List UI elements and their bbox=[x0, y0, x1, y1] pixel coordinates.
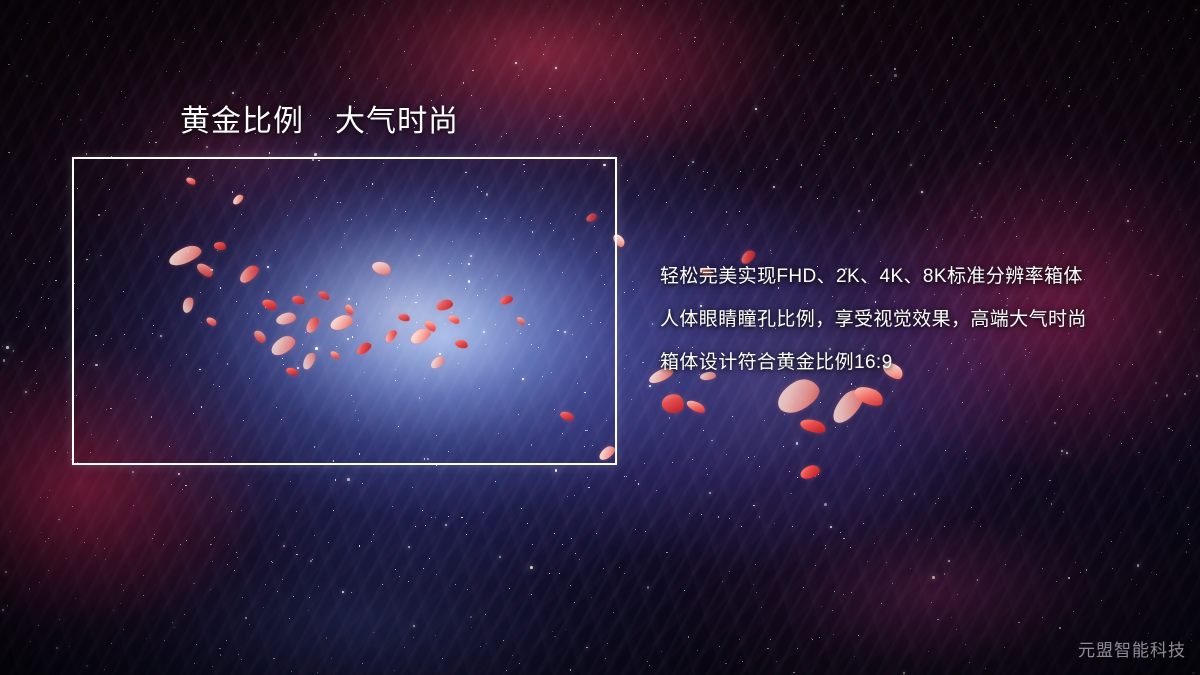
star-point bbox=[47, 497, 48, 498]
star-point bbox=[988, 390, 989, 391]
star-point bbox=[1016, 236, 1017, 237]
star-point bbox=[1117, 21, 1118, 22]
star-point bbox=[1051, 503, 1053, 505]
star-point bbox=[643, 98, 644, 99]
star-point bbox=[764, 98, 765, 99]
feature-description: 轻松完美实现FHD、2K、4K、8K标准分辨率箱体 人体眼睛瞳孔比例，享受视觉效… bbox=[660, 255, 1160, 384]
star-point bbox=[143, 595, 144, 596]
star-point bbox=[392, 506, 393, 507]
star-point bbox=[952, 37, 953, 38]
star-point bbox=[691, 212, 692, 213]
star-point bbox=[552, 631, 553, 632]
star-point bbox=[1196, 375, 1198, 377]
star-point bbox=[951, 617, 952, 618]
star-point bbox=[932, 576, 935, 579]
star-point bbox=[423, 568, 424, 569]
star-point bbox=[206, 146, 208, 148]
star-point bbox=[28, 326, 29, 327]
star-point bbox=[815, 476, 816, 477]
star-point bbox=[645, 531, 646, 532]
star-point bbox=[732, 416, 733, 417]
star-point bbox=[688, 165, 689, 166]
star-point bbox=[1125, 3, 1127, 5]
star-point bbox=[928, 651, 929, 652]
star-point bbox=[554, 636, 556, 638]
star-point bbox=[130, 50, 131, 51]
star-point bbox=[984, 83, 985, 84]
star-point bbox=[531, 594, 532, 595]
star-point bbox=[1192, 672, 1195, 675]
star-point bbox=[703, 430, 704, 431]
star-point bbox=[1160, 145, 1161, 146]
star-point bbox=[680, 33, 681, 34]
star-point bbox=[858, 210, 860, 212]
star-point bbox=[65, 357, 66, 358]
star-point bbox=[296, 554, 297, 555]
star-point bbox=[404, 647, 405, 648]
star-point bbox=[1080, 572, 1081, 573]
star-point bbox=[353, 14, 354, 15]
star-point bbox=[917, 539, 919, 541]
star-point bbox=[42, 284, 43, 285]
star-point bbox=[660, 38, 661, 39]
star-point bbox=[1186, 224, 1187, 225]
star-point bbox=[938, 498, 939, 499]
star-point bbox=[1183, 18, 1184, 19]
star-point bbox=[867, 561, 868, 562]
star-point bbox=[1190, 142, 1191, 143]
star-point bbox=[1148, 11, 1149, 12]
star-point bbox=[11, 214, 12, 215]
star-point bbox=[798, 23, 799, 24]
star-point bbox=[642, 362, 643, 363]
star-point bbox=[766, 167, 767, 168]
star-point bbox=[1101, 600, 1102, 601]
star-point bbox=[753, 584, 754, 585]
star-point bbox=[642, 5, 643, 6]
star-point bbox=[395, 569, 396, 570]
star-point bbox=[105, 559, 106, 560]
star-point bbox=[1179, 460, 1180, 461]
star-point bbox=[652, 323, 654, 325]
star-point bbox=[1063, 253, 1064, 254]
star-point bbox=[894, 68, 895, 69]
star-point bbox=[92, 21, 93, 22]
star-point bbox=[272, 562, 273, 563]
star-point bbox=[960, 54, 961, 55]
star-point bbox=[796, 442, 799, 445]
star-point bbox=[783, 55, 784, 56]
star-point bbox=[470, 616, 473, 619]
star-point bbox=[1106, 23, 1107, 24]
star-point bbox=[859, 456, 860, 457]
star-point bbox=[121, 584, 122, 585]
star-point bbox=[275, 499, 276, 500]
star-point bbox=[121, 91, 122, 92]
star-point bbox=[599, 23, 601, 25]
star-point bbox=[19, 311, 20, 312]
star-point bbox=[921, 191, 923, 193]
star-point bbox=[58, 519, 60, 521]
star-point bbox=[77, 528, 78, 529]
star-point bbox=[1168, 20, 1169, 21]
star-point bbox=[29, 588, 30, 589]
star-point bbox=[1127, 220, 1129, 222]
star-point bbox=[704, 189, 705, 190]
star-point bbox=[466, 534, 467, 535]
star-point bbox=[1005, 564, 1006, 565]
star-point bbox=[26, 75, 28, 77]
star-point bbox=[965, 451, 966, 452]
star-point bbox=[1172, 430, 1173, 431]
star-point bbox=[257, 45, 258, 46]
star-point bbox=[461, 517, 462, 518]
star-point bbox=[1056, 97, 1057, 98]
star-point bbox=[6, 346, 9, 349]
star-point bbox=[184, 614, 185, 615]
star-point bbox=[194, 663, 195, 664]
star-point bbox=[910, 568, 911, 569]
star-point bbox=[638, 195, 639, 196]
star-point bbox=[1166, 394, 1169, 397]
star-point bbox=[398, 39, 399, 40]
star-point bbox=[835, 427, 836, 428]
star-point bbox=[1125, 142, 1126, 143]
star-point bbox=[399, 576, 400, 577]
star-point bbox=[654, 189, 655, 190]
star-point bbox=[314, 153, 317, 156]
star-point bbox=[41, 532, 42, 533]
star-point bbox=[801, 398, 802, 399]
star-point bbox=[590, 126, 591, 127]
star-point bbox=[874, 12, 875, 13]
star-point bbox=[690, 105, 691, 106]
star-point bbox=[384, 3, 385, 4]
star-point bbox=[1014, 218, 1015, 219]
star-point bbox=[1049, 480, 1050, 481]
star-point bbox=[1113, 62, 1114, 63]
star-point bbox=[107, 36, 108, 37]
star-point bbox=[1194, 114, 1195, 115]
star-point bbox=[278, 535, 279, 536]
star-point bbox=[241, 510, 242, 511]
star-point bbox=[869, 488, 870, 489]
star-point bbox=[425, 525, 426, 526]
star-point bbox=[979, 163, 981, 165]
star-point bbox=[761, 607, 762, 608]
star-point bbox=[328, 542, 329, 543]
star-point bbox=[973, 521, 974, 522]
star-point bbox=[1194, 161, 1195, 162]
star-point bbox=[349, 78, 350, 79]
star-point bbox=[522, 69, 523, 70]
star-point bbox=[97, 538, 98, 539]
star-point bbox=[855, 386, 856, 387]
star-point bbox=[847, 426, 848, 427]
star-point bbox=[1189, 390, 1190, 391]
star-point bbox=[1077, 404, 1078, 405]
star-point bbox=[1063, 511, 1064, 512]
star-point bbox=[1172, 48, 1173, 49]
star-point bbox=[964, 235, 965, 236]
star-point bbox=[776, 159, 777, 160]
star-point bbox=[1112, 568, 1113, 569]
star-point bbox=[277, 591, 278, 592]
star-point bbox=[1101, 552, 1102, 553]
star-point bbox=[45, 541, 46, 542]
star-point bbox=[448, 516, 449, 517]
star-point bbox=[221, 41, 222, 42]
rose-petal bbox=[799, 417, 827, 436]
star-point bbox=[549, 573, 550, 574]
star-point bbox=[588, 487, 589, 488]
star-point bbox=[1162, 182, 1163, 183]
star-point bbox=[1186, 551, 1188, 553]
star-point bbox=[1194, 329, 1195, 330]
star-point bbox=[605, 658, 606, 659]
star-point bbox=[572, 37, 573, 38]
star-point bbox=[684, 236, 685, 237]
star-point bbox=[770, 250, 771, 251]
star-point bbox=[185, 485, 186, 486]
star-point bbox=[1151, 572, 1152, 573]
star-point bbox=[530, 566, 533, 569]
star-point bbox=[174, 39, 175, 40]
star-point bbox=[819, 154, 820, 155]
star-point bbox=[559, 573, 560, 574]
star-point bbox=[1068, 577, 1069, 578]
star-point bbox=[265, 584, 266, 585]
star-point bbox=[296, 38, 297, 39]
star-point bbox=[916, 21, 917, 22]
star-point bbox=[753, 505, 755, 507]
star-point bbox=[171, 484, 172, 485]
star-point bbox=[296, 142, 297, 143]
star-point bbox=[694, 41, 695, 42]
star-point bbox=[672, 462, 673, 463]
star-point bbox=[850, 547, 851, 548]
star-point bbox=[72, 506, 73, 507]
star-point bbox=[245, 617, 246, 618]
star-point bbox=[684, 590, 685, 591]
star-point bbox=[644, 69, 645, 70]
star-point bbox=[532, 544, 533, 545]
star-point bbox=[669, 396, 670, 397]
star-point bbox=[602, 512, 603, 513]
star-point bbox=[692, 459, 693, 460]
star-point bbox=[921, 27, 922, 28]
star-point bbox=[1109, 435, 1110, 436]
star-point bbox=[565, 629, 566, 630]
star-point bbox=[798, 45, 799, 46]
star-point bbox=[340, 66, 341, 67]
star-point bbox=[408, 581, 409, 582]
star-point bbox=[856, 138, 857, 139]
star-point bbox=[1027, 85, 1029, 87]
star-point bbox=[711, 440, 713, 442]
star-point bbox=[1131, 41, 1133, 43]
star-point bbox=[886, 562, 887, 563]
star-point bbox=[172, 622, 173, 623]
star-point bbox=[36, 204, 37, 205]
star-point bbox=[1010, 475, 1011, 476]
star-point bbox=[784, 16, 785, 17]
star-point bbox=[258, 43, 260, 45]
star-point bbox=[1095, 26, 1096, 27]
star-point bbox=[193, 583, 194, 584]
star-point bbox=[68, 55, 69, 56]
star-point bbox=[210, 80, 211, 81]
star-point bbox=[565, 90, 566, 91]
star-point bbox=[182, 489, 183, 490]
star-point bbox=[941, 130, 942, 131]
star-point bbox=[891, 80, 892, 81]
star-point bbox=[800, 186, 801, 187]
star-point bbox=[956, 629, 957, 630]
star-point bbox=[1042, 200, 1043, 201]
brand-watermark: 元盟智能科技 bbox=[1078, 636, 1186, 661]
star-point bbox=[834, 93, 835, 94]
star-point bbox=[501, 136, 502, 137]
star-point bbox=[291, 671, 292, 672]
star-point bbox=[1190, 445, 1191, 446]
rose-petal bbox=[685, 398, 707, 415]
star-point bbox=[312, 559, 313, 560]
star-point bbox=[1018, 622, 1019, 623]
star-point bbox=[67, 116, 68, 117]
star-point bbox=[48, 538, 49, 539]
star-point bbox=[178, 473, 180, 475]
star-point bbox=[1151, 422, 1152, 423]
star-point bbox=[231, 511, 232, 512]
star-point bbox=[362, 483, 363, 484]
star-point bbox=[1087, 147, 1088, 148]
star-point bbox=[1139, 613, 1140, 614]
star-point bbox=[1121, 443, 1122, 444]
star-point bbox=[422, 510, 423, 511]
star-point bbox=[965, 644, 966, 645]
star-point bbox=[55, 280, 56, 281]
star-point bbox=[924, 155, 925, 156]
star-point bbox=[554, 37, 555, 38]
star-point bbox=[707, 172, 708, 173]
star-point bbox=[784, 414, 785, 415]
star-point bbox=[901, 500, 902, 501]
star-point bbox=[10, 412, 11, 413]
star-point bbox=[1137, 564, 1140, 567]
star-point bbox=[146, 638, 147, 639]
star-point bbox=[211, 544, 212, 545]
star-point bbox=[495, 45, 496, 46]
star-point bbox=[512, 655, 513, 656]
star-point bbox=[342, 591, 344, 593]
star-point bbox=[798, 75, 800, 77]
star-point bbox=[295, 546, 296, 547]
star-point bbox=[669, 417, 670, 418]
star-point bbox=[1171, 105, 1172, 106]
description-line-2: 人体眼睛瞳孔比例，享受视觉效果，高端大气时尚 bbox=[660, 298, 1160, 341]
star-point bbox=[599, 150, 600, 151]
star-point bbox=[1191, 634, 1192, 635]
star-point bbox=[122, 124, 123, 125]
star-point bbox=[21, 39, 22, 40]
star-point bbox=[450, 10, 451, 11]
star-point bbox=[210, 589, 211, 590]
star-point bbox=[371, 541, 372, 542]
star-point bbox=[1188, 524, 1189, 525]
star-point bbox=[647, 661, 648, 662]
star-point bbox=[1013, 115, 1014, 116]
star-point bbox=[1172, 124, 1173, 125]
star-point bbox=[210, 544, 211, 545]
star-point bbox=[1039, 30, 1040, 31]
star-point bbox=[613, 35, 614, 36]
star-point bbox=[1011, 488, 1012, 489]
star-point bbox=[1131, 579, 1132, 580]
star-point bbox=[412, 487, 413, 488]
star-point bbox=[1071, 157, 1072, 158]
star-point bbox=[562, 126, 563, 127]
star-point bbox=[740, 62, 741, 63]
star-point bbox=[991, 150, 992, 151]
star-point bbox=[969, 662, 970, 663]
star-point bbox=[746, 136, 747, 137]
star-point bbox=[515, 62, 517, 64]
star-point bbox=[834, 108, 835, 109]
star-point bbox=[910, 164, 912, 166]
star-point bbox=[25, 259, 27, 261]
star-point bbox=[978, 29, 979, 30]
star-point bbox=[60, 228, 61, 229]
star-point bbox=[101, 112, 102, 113]
star-point bbox=[870, 75, 872, 77]
star-point bbox=[1141, 230, 1142, 231]
star-point bbox=[182, 42, 184, 44]
star-point bbox=[267, 93, 268, 94]
star-point bbox=[1089, 413, 1090, 414]
star-point bbox=[994, 121, 995, 122]
star-point bbox=[65, 417, 66, 418]
star-point bbox=[817, 198, 818, 199]
star-point bbox=[842, 13, 843, 14]
star-point bbox=[1124, 140, 1125, 141]
star-point bbox=[152, 538, 153, 539]
star-point bbox=[754, 456, 755, 457]
star-point bbox=[194, 28, 195, 29]
star-point bbox=[32, 81, 33, 82]
star-point bbox=[263, 607, 264, 608]
star-point bbox=[113, 610, 114, 611]
star-point bbox=[362, 663, 363, 664]
star-point bbox=[870, 184, 871, 185]
star-point bbox=[692, 161, 694, 163]
star-point bbox=[382, 584, 383, 585]
star-point bbox=[326, 637, 327, 638]
star-point bbox=[237, 557, 238, 558]
star-point bbox=[220, 654, 221, 655]
star-point bbox=[1046, 498, 1047, 499]
star-point bbox=[232, 92, 234, 94]
star-point bbox=[1080, 89, 1081, 90]
star-point bbox=[680, 79, 681, 80]
star-point bbox=[801, 164, 802, 165]
star-point bbox=[830, 526, 832, 528]
star-point bbox=[269, 152, 270, 153]
star-point bbox=[509, 588, 510, 589]
star-point bbox=[944, 573, 946, 575]
star-point bbox=[971, 210, 973, 212]
star-point bbox=[985, 668, 986, 669]
